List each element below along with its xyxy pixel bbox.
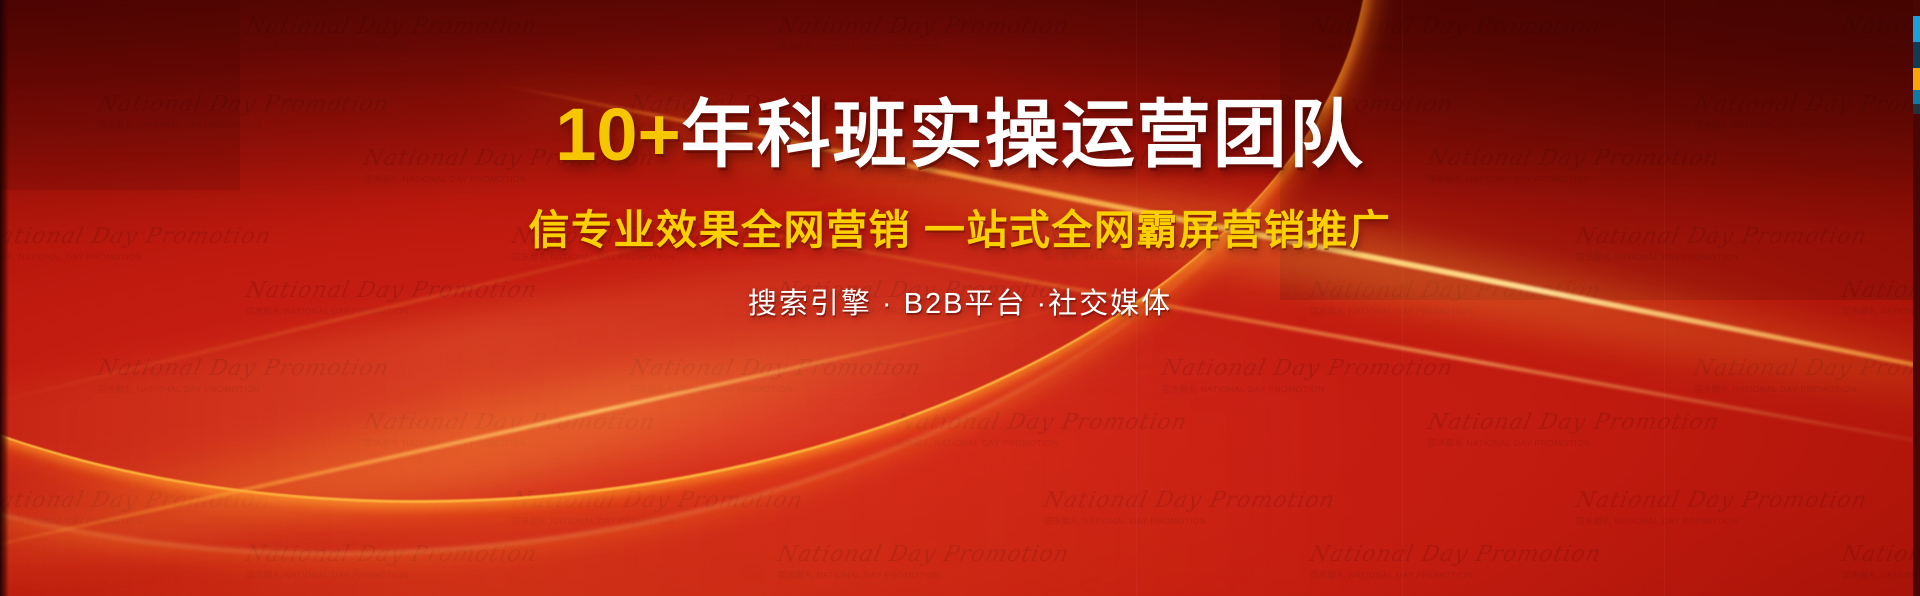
right-edge-segment-5 <box>1913 104 1920 114</box>
right-edge-segment-4 <box>1913 90 1920 104</box>
headline-number: 10+ <box>555 93 681 176</box>
right-edge-indicator <box>1913 0 1920 596</box>
promo-banner: National Day Promotion国庆献礼 NATIONAL DAY … <box>0 0 1920 596</box>
headline: 10+年科班实操运营团队 <box>0 96 1920 174</box>
right-edge-segment-2 <box>1913 42 1920 68</box>
right-edge-segment-1 <box>1913 16 1920 42</box>
headline-text: 年科班实操运营团队 <box>681 93 1365 176</box>
banner-content: 10+年科班实操运营团队 信专业效果全网营销 一站式全网霸屏营销推广 搜索引擎 … <box>0 96 1920 322</box>
tagline: 搜索引擎 · B2B平台 ·社交媒体 <box>0 280 1920 322</box>
subheadline: 信专业效果全网营销 一站式全网霸屏营销推广 <box>0 196 1920 256</box>
right-edge-segment-3 <box>1913 68 1920 90</box>
left-edge-shade <box>0 0 9 596</box>
